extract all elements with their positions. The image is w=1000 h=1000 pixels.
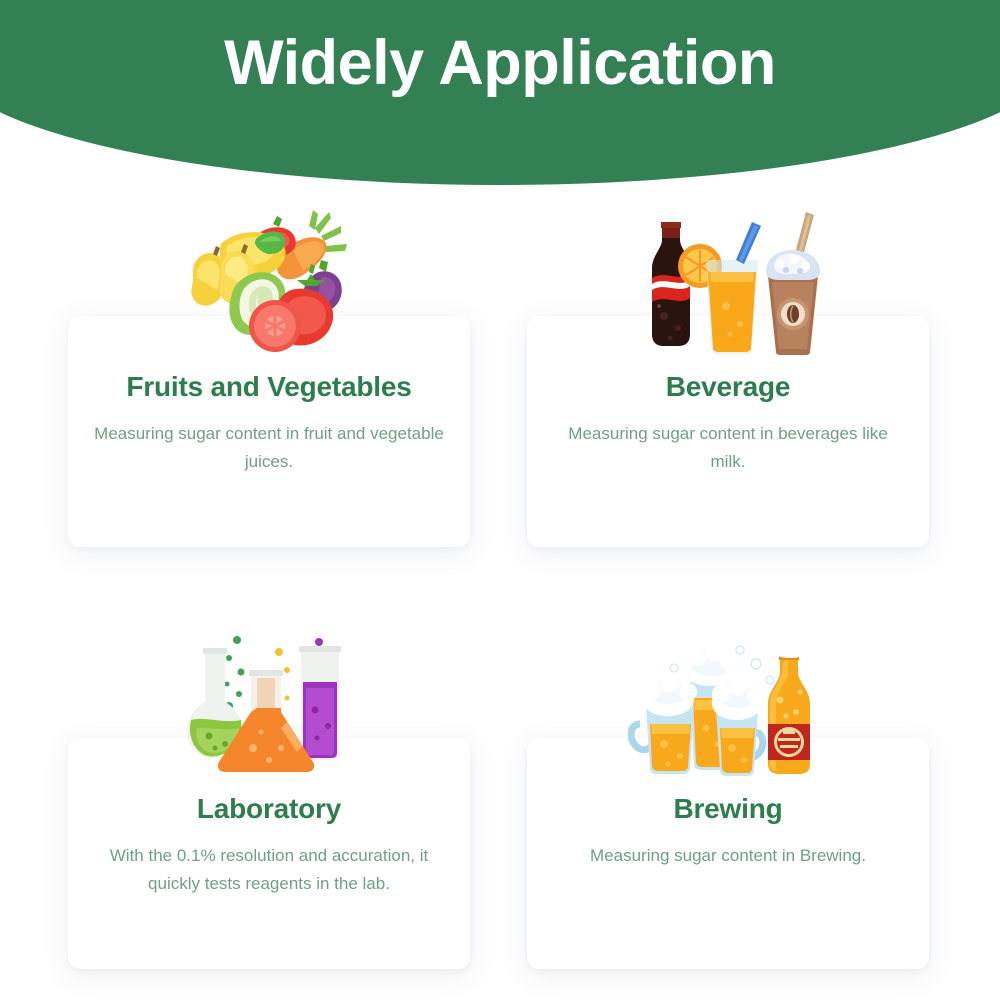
- application-card-beverage[interactable]: Beverage Measuring sugar content in beve…: [527, 316, 929, 547]
- grid-cell-beverage: Beverage Measuring sugar content in beve…: [500, 196, 1000, 580]
- page-title: Widely Application: [0, 30, 1000, 96]
- application-card-brewing[interactable]: Brewing Measuring sugar content in Brewi…: [527, 738, 929, 969]
- grid-cell-laboratory: Laboratory With the 0.1% resolution and …: [0, 618, 500, 1000]
- grid-cell-fruits-and-vegetables: Fruits and Vegetables Measuring sugar co…: [0, 196, 500, 580]
- card-title: Beverage: [527, 372, 929, 403]
- application-card-fruits-and-vegetables[interactable]: Fruits and Vegetables Measuring sugar co…: [68, 316, 470, 547]
- card-description: With the 0.1% resolution and accuration,…: [90, 842, 448, 897]
- card-description: Measuring sugar content in Brewing.: [549, 842, 907, 870]
- header-banner: Widely Application: [0, 0, 1000, 185]
- card-description: Measuring sugar content in beverages lik…: [549, 420, 907, 475]
- grid-cell-brewing: Brewing Measuring sugar content in Brewi…: [500, 618, 1000, 1000]
- card-title: Laboratory: [68, 794, 470, 825]
- application-page: Widely Application Fruits and Vegetables…: [0, 0, 1000, 1000]
- application-card-grid: Fruits and Vegetables Measuring sugar co…: [0, 196, 1000, 1000]
- card-title: Brewing: [527, 794, 929, 825]
- card-title: Fruits and Vegetables: [68, 372, 470, 403]
- card-description: Measuring sugar content in fruit and veg…: [90, 420, 448, 475]
- application-card-laboratory[interactable]: Laboratory With the 0.1% resolution and …: [68, 738, 470, 969]
